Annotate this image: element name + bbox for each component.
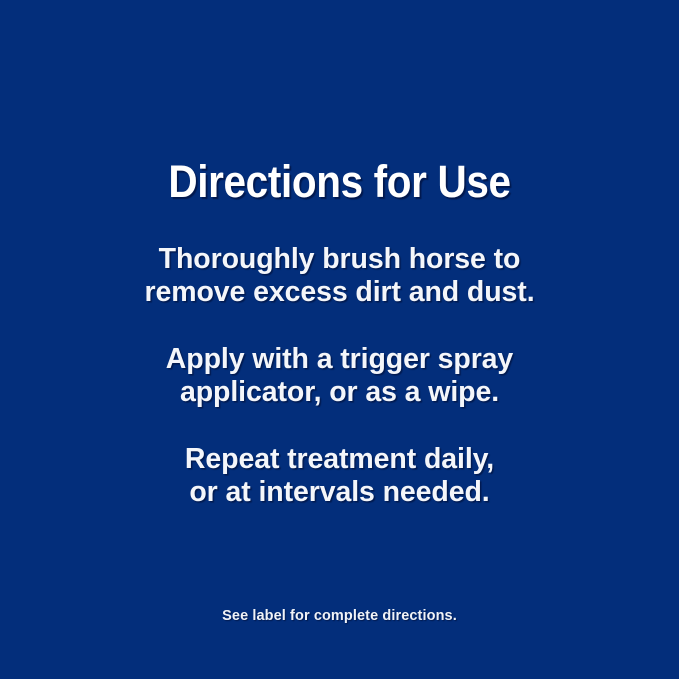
- directions-for-use-panel: Directions for Use Thoroughly brush hors…: [0, 0, 679, 679]
- instruction-line: remove excess dirt and dust.: [0, 276, 679, 309]
- instructions-list: Thoroughly brush horse to remove excess …: [0, 243, 679, 509]
- instruction-step-1: Thoroughly brush horse to remove excess …: [0, 243, 679, 309]
- footer-disclaimer: See label for complete directions.: [0, 607, 679, 625]
- instruction-step-2: Apply with a trigger spray applicator, o…: [0, 343, 679, 409]
- instruction-line: applicator, or as a wipe.: [0, 376, 679, 409]
- page-title: Directions for Use: [34, 158, 645, 206]
- instruction-line: Repeat treatment daily,: [0, 443, 679, 476]
- instruction-line: or at intervals needed.: [0, 476, 679, 509]
- instruction-step-3: Repeat treatment daily, or at intervals …: [0, 443, 679, 509]
- instruction-line: Apply with a trigger spray: [0, 343, 679, 376]
- instruction-line: Thoroughly brush horse to: [0, 243, 679, 276]
